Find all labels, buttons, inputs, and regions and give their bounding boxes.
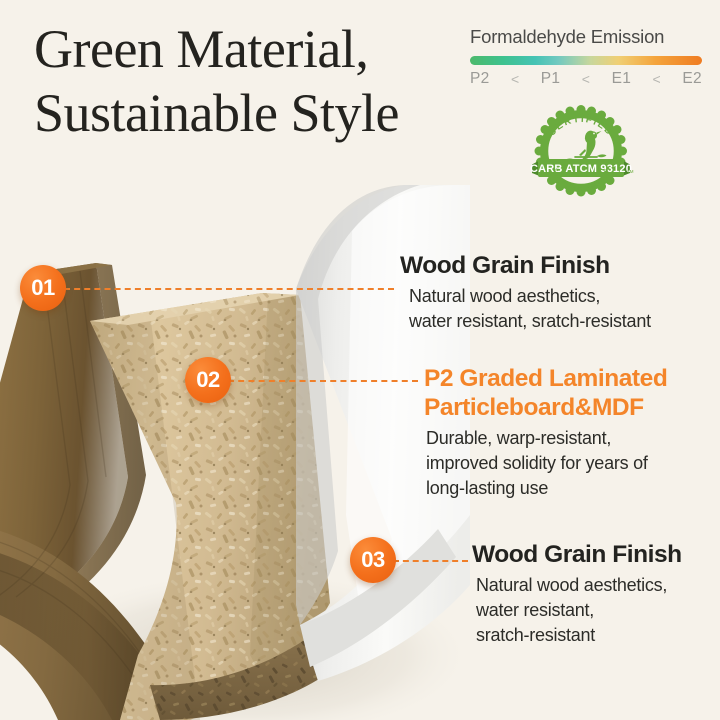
callout-title-03: Wood Grain Finish (472, 541, 717, 570)
seal-banner: CARB ATCM 93120 (530, 159, 632, 177)
emission-label-p2: P2 (470, 70, 490, 88)
page-title: Green Material, Sustainable Style (34, 18, 464, 145)
callout-badge-01[interactable]: 01 (20, 265, 66, 311)
emission-scale-labels: P2 < P1 < E1 < E2 (470, 70, 702, 88)
emission-gradient-bar (470, 56, 702, 65)
emission-separator-1: < (511, 71, 519, 87)
callout-block-02: P2 Graded LaminatedParticleboard&MDF Dur… (424, 365, 714, 501)
carb-certification-seal: CERTIFIED CARB ATCM 93120 (527, 103, 635, 201)
callout-badge-03[interactable]: 03 (350, 537, 396, 583)
connector-line-01 (64, 288, 394, 290)
connector-line-03 (393, 560, 468, 562)
callout-badge-02[interactable]: 02 (185, 357, 231, 403)
callout-title-01: Wood Grain Finish (400, 252, 710, 281)
emission-separator-2: < (582, 71, 590, 87)
connector-line-02 (228, 380, 418, 382)
callout-block-03: Wood Grain Finish Natural wood aesthetic… (472, 541, 717, 648)
emission-scale-title: Formaldehyde Emission (470, 26, 702, 48)
emission-label-e1: E1 (612, 70, 632, 88)
emission-separator-3: < (653, 71, 661, 87)
emission-label-p1: P1 (541, 70, 561, 88)
formaldehyde-emission-scale: Formaldehyde Emission P2 < P1 < E1 < E2 (470, 26, 702, 88)
seal-trademark: TM (627, 169, 634, 174)
headline-line-2: Sustainable Style (34, 82, 464, 146)
infographic-page: Green Material, Sustainable Style Formal… (0, 0, 720, 720)
seal-banner-text: CARB ATCM 93120 (530, 163, 632, 175)
callout-title-02: P2 Graded LaminatedParticleboard&MDF (424, 365, 714, 422)
callout-body-03: Natural wood aesthetics,water resistant,… (476, 573, 717, 648)
headline-line-1: Green Material, (34, 18, 464, 82)
callout-body-02: Durable, warp-resistant,improved solidit… (426, 426, 714, 501)
emission-label-e2: E2 (682, 70, 702, 88)
callout-body-01: Natural wood aesthetics,water resistant,… (409, 284, 710, 334)
callout-block-01: Wood Grain Finish Natural wood aesthetic… (400, 252, 710, 334)
